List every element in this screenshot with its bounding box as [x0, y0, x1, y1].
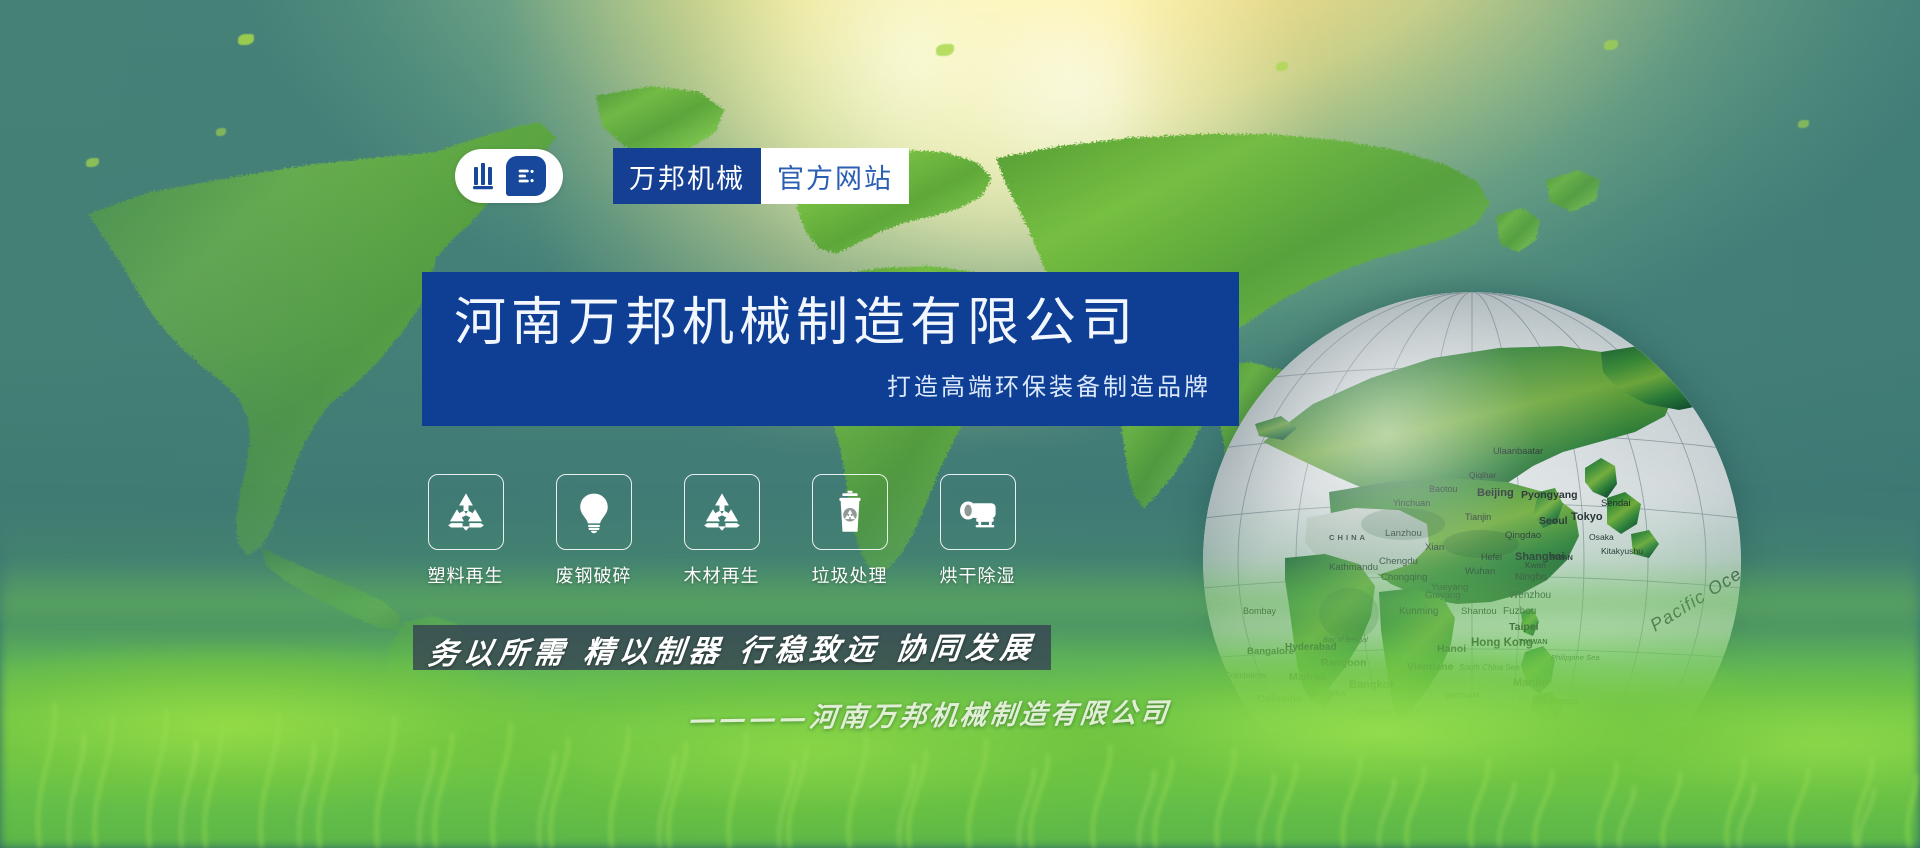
feature-item-waste-treatment[interactable]: 垃圾处理: [803, 474, 896, 588]
tab-company-name[interactable]: 万邦机械: [613, 148, 761, 204]
svg-text:Qiqihar: Qiqihar: [1469, 470, 1496, 480]
feature-item-scrap-steel-crushing[interactable]: 废钢破碎: [547, 474, 640, 588]
hero-banner-stage: Ulaanbaatar Beijing Tianjin Pyongyang Se…: [0, 0, 1920, 848]
company-title-banner: 河南万邦机械制造有限公司 打造高端环保装备制造品牌: [422, 272, 1239, 426]
slogan-signature: ————河南万邦机械制造有限公司: [657, 690, 1202, 737]
feature-label: 木材再生: [684, 562, 760, 588]
site-logo-row[interactable]: 万邦机械 官方网站: [455, 148, 909, 204]
feature-label: 烘干除湿: [940, 562, 1016, 588]
feature-icon-row: 塑料再生 废钢破碎: [419, 474, 1024, 588]
feature-item-plastic-recycling[interactable]: 塑料再生: [419, 474, 512, 588]
dryer-machine-icon: [956, 490, 1000, 534]
feature-label: 垃圾处理: [812, 562, 888, 588]
recycle-icon: [699, 489, 745, 535]
tab-official-site[interactable]: 官方网站: [761, 148, 909, 204]
company-title: 河南万邦机械制造有限公司: [454, 296, 1211, 351]
company-tagline: 打造高端环保装备制造品牌: [454, 367, 1211, 402]
svg-text:Baotou: Baotou: [1429, 484, 1458, 494]
feature-icon-box[interactable]: [940, 474, 1016, 550]
feature-label: 塑料再生: [428, 562, 504, 588]
slogan-text: 务以所需 精以制器 行稳致远 协同发展: [426, 622, 1038, 672]
feature-icon-box[interactable]: [556, 474, 632, 550]
feature-icon-box[interactable]: [812, 474, 888, 550]
lightbulb-icon: [572, 490, 616, 534]
feature-item-drying-dehumidifying[interactable]: 烘干除湿: [931, 474, 1024, 588]
recycle-icon: [443, 489, 489, 535]
trash-bin-icon: [828, 490, 872, 534]
svg-text:Ulaanbaatar: Ulaanbaatar: [1493, 446, 1543, 456]
slogan-banner: 务以所需 精以制器 行稳致远 协同发展: [413, 625, 1051, 670]
feature-item-wood-recycling[interactable]: 木材再生: [675, 474, 768, 588]
brand-tabs[interactable]: 万邦机械 官方网站: [613, 148, 909, 204]
feature-icon-box[interactable]: [684, 474, 760, 550]
w-letter-icon: [472, 161, 500, 191]
feature-label: 废钢破碎: [556, 562, 632, 588]
b-letter-icon: [506, 156, 546, 196]
feature-icon-box[interactable]: [428, 474, 504, 550]
logo-badge[interactable]: [455, 149, 563, 203]
